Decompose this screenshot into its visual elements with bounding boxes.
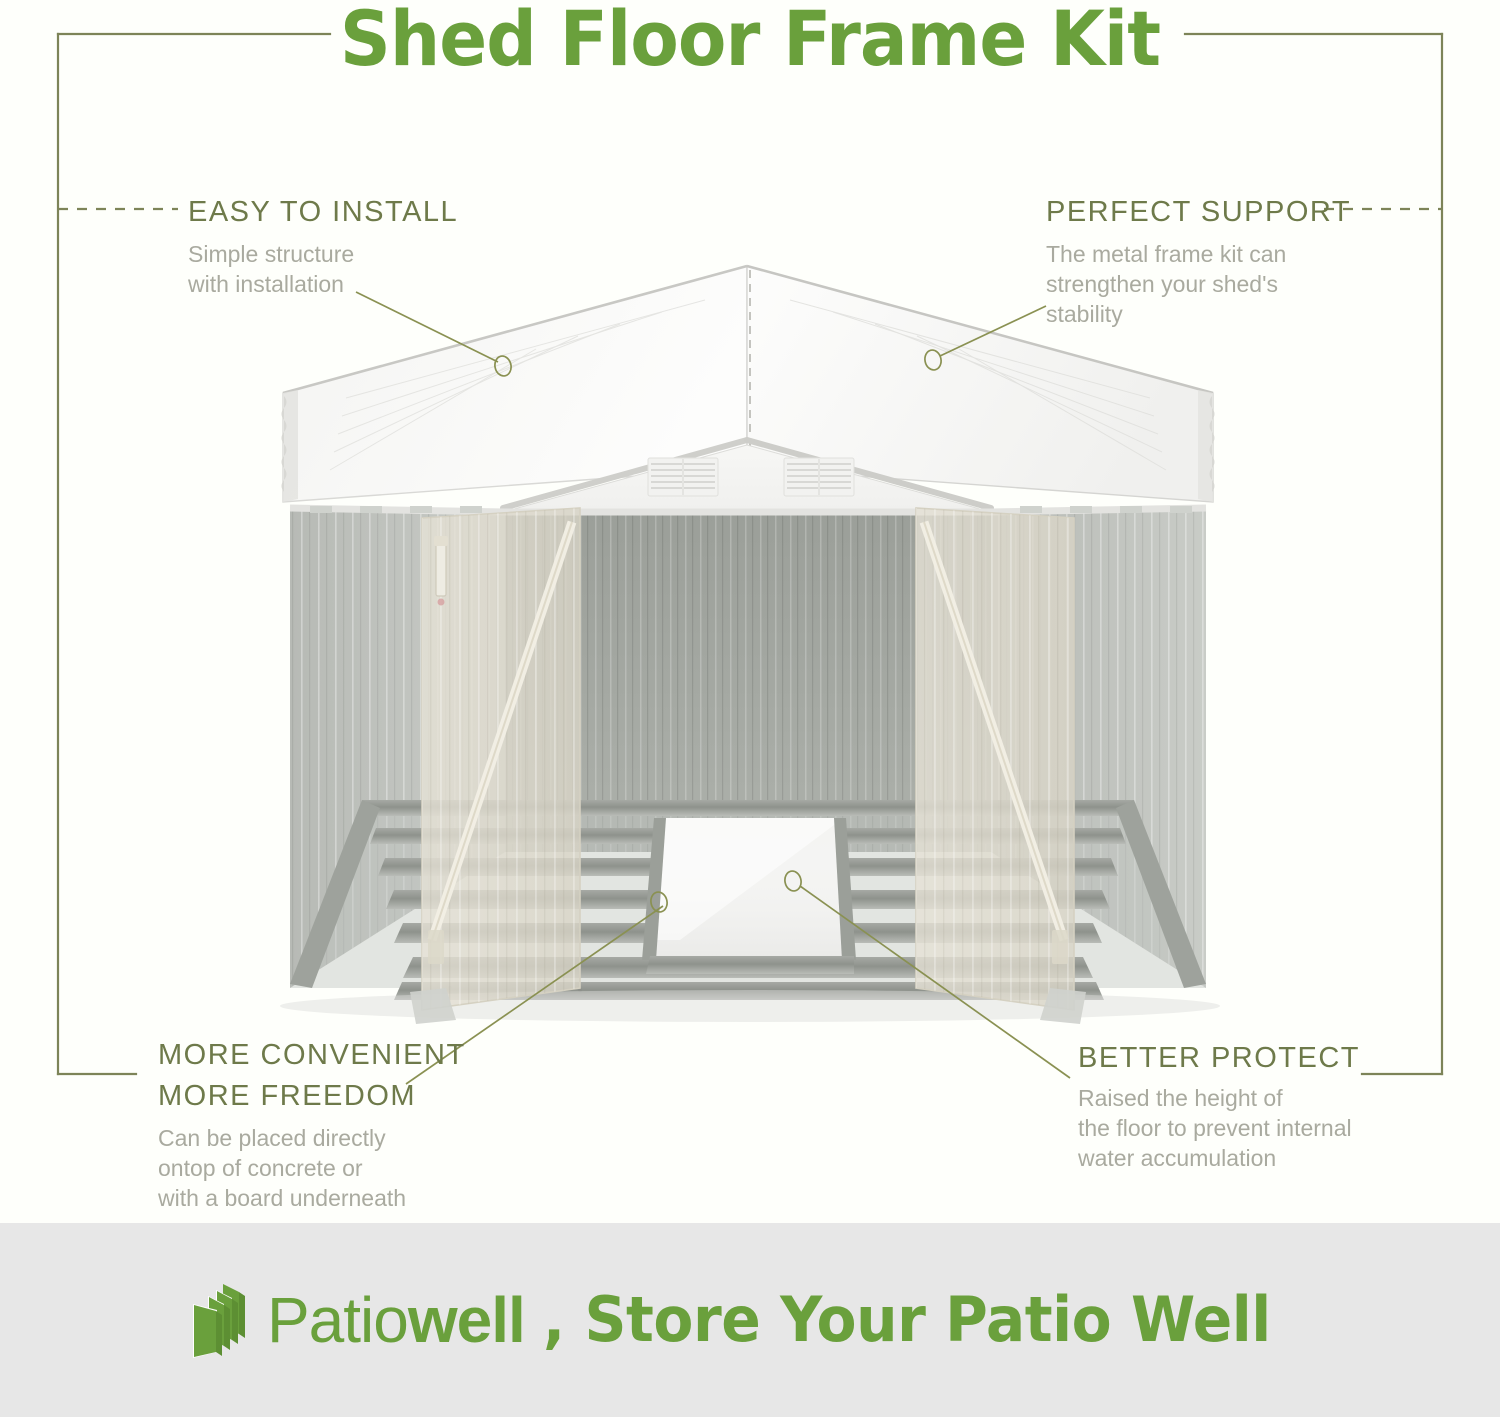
callout-body-line: ontop of concrete or [158,1153,466,1183]
patiowell-panels-logo-icon [183,1278,255,1362]
brand-name-bold: well [408,1284,525,1356]
callout-body-line: Raised the height of [1078,1083,1360,1113]
callout-body-line: with a board underneath [158,1183,466,1213]
callout-heading: MORE FREEDOM [158,1076,466,1117]
brand-name-light: Patio [267,1284,408,1356]
door-left [422,508,580,1010]
callout-heading: PERFECT SUPPORT [1046,192,1351,233]
door-right [916,508,1074,1010]
gable-vent-right [784,458,854,496]
callout-body-line: stability [1046,299,1351,329]
callout-better-protect: BETTER PROTECT Raised the height of the … [1078,1038,1360,1173]
infographic-panel: Shed Floor Frame Kit [0,0,1500,1223]
callout-body-line: Simple structure [188,239,458,269]
callout-body-line: The metal frame kit can [1046,239,1351,269]
gable-vent-left [648,458,718,496]
callout-heading: MORE CONVENIENT [158,1035,466,1076]
callout-body-line: Can be placed directly [158,1123,466,1153]
brand-tagline: , Store Your Patio Well [543,1289,1271,1351]
tagline-separator: , [543,1283,565,1356]
callout-body-line: the floor to prevent internal [1078,1113,1360,1143]
callout-easy-to-install: EASY TO INSTALL Simple structure with in… [188,192,458,299]
callout-body-line: water accumulation [1078,1143,1360,1173]
callout-heading: BETTER PROTECT [1078,1038,1360,1079]
tagline-text: Store Your Patio Well [584,1283,1270,1356]
callout-body-line: with installation [188,269,458,299]
brand-wordmark: Patiowell [267,1288,525,1352]
callout-heading: EASY TO INSTALL [188,192,458,233]
brand-footer: Patiowell , Store Your Patio Well [0,1223,1500,1417]
page-title: Shed Floor Frame Kit [53,0,1448,83]
shed-product-illustration [250,240,1260,1030]
callout-perfect-support: PERFECT SUPPORT The metal frame kit can … [1046,192,1351,329]
callout-body-line: strengthen your shed's [1046,269,1351,299]
callout-more-convenient-more-freedom: MORE CONVENIENT MORE FREEDOM Can be plac… [158,1035,466,1213]
